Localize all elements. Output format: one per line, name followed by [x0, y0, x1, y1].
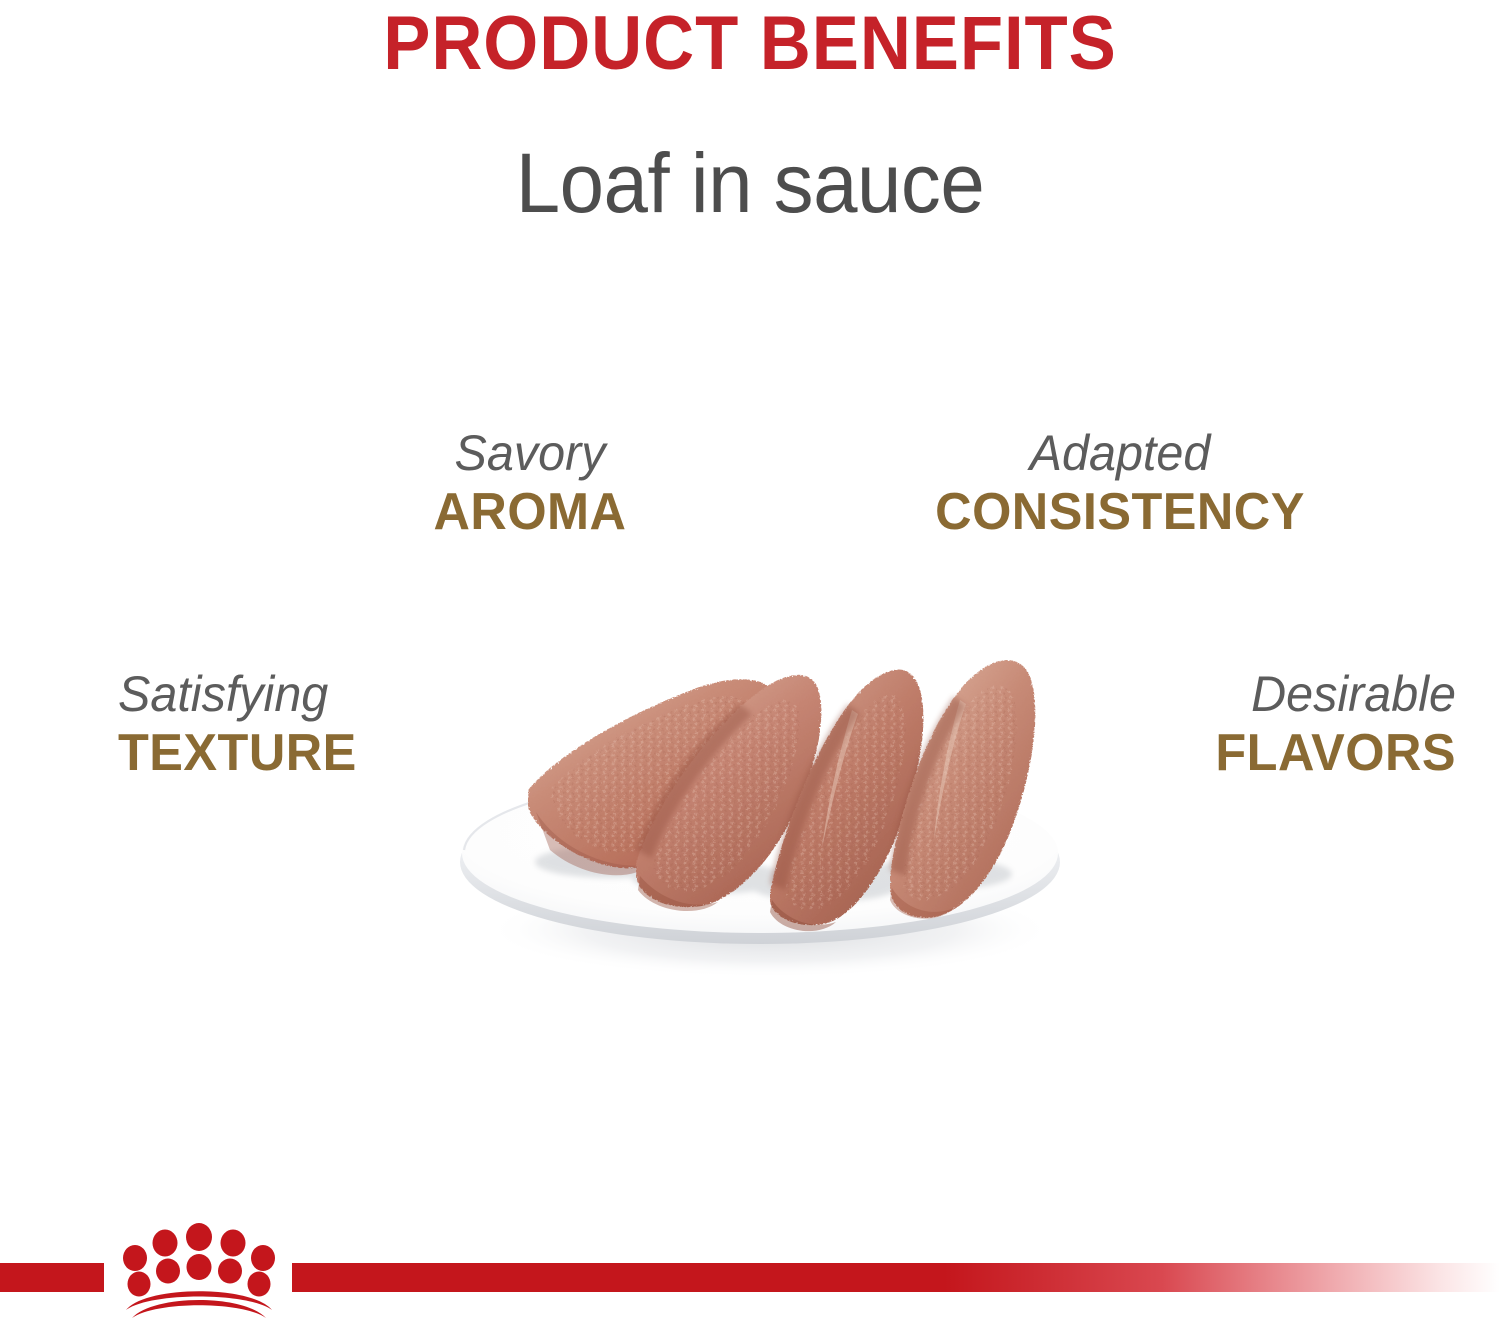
benefit-texture-adjective: Satisfying	[118, 665, 467, 723]
product-food-image	[440, 600, 1080, 980]
benefit-aroma: Savory AROMA	[330, 424, 730, 542]
benefit-flavors: Desirable FLAVORS	[1040, 665, 1456, 783]
benefit-texture: Satisfying TEXTURE	[118, 665, 478, 783]
brand-bar-left	[0, 1263, 104, 1292]
benefit-flavors-adjective: Desirable	[1052, 665, 1456, 723]
benefit-consistency-noun: CONSISTENCY	[868, 482, 1372, 542]
page-subtitle: Loaf in sauce	[38, 136, 1463, 230]
benefit-consistency-adjective: Adapted	[868, 424, 1372, 482]
benefit-flavors-noun: FLAVORS	[1052, 723, 1456, 783]
benefit-consistency: Adapted CONSISTENCY	[860, 424, 1380, 542]
benefit-aroma-adjective: Savory	[336, 424, 724, 482]
page-title: PRODUCT BENEFITS	[53, 2, 1448, 86]
brand-bar-right	[292, 1263, 1500, 1292]
royal-canin-crown-logo	[108, 1222, 290, 1318]
benefit-texture-noun: TEXTURE	[118, 723, 467, 783]
benefit-aroma-noun: AROMA	[336, 482, 724, 542]
